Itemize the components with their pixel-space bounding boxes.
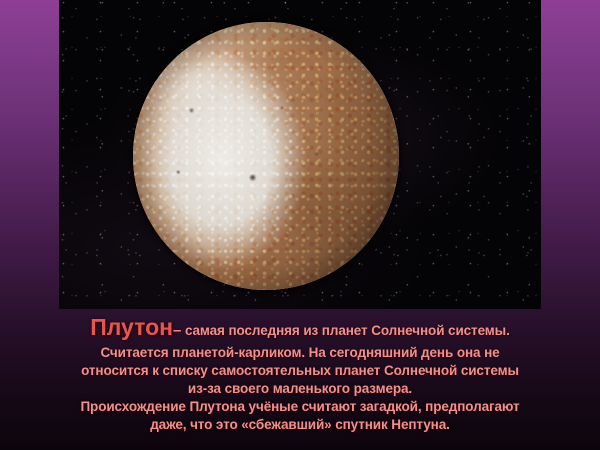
caption-line-2: Считается планетой-карликом. На сегодняш… [0, 344, 600, 362]
page-title: Плутон [90, 314, 173, 340]
caption-line-1-rest: самая последняя из планет Солнечной сист… [185, 323, 510, 338]
pluto-photo [59, 0, 541, 309]
caption-line-1: Плутон– самая последняя из планет Солнеч… [0, 314, 600, 344]
caption-dash: – [173, 322, 181, 339]
caption-line-5: Происхождение Плутона учёные считают заг… [0, 398, 600, 416]
caption-line-3: относится к списку самостоятельных плане… [0, 362, 600, 380]
caption-line-6: даже, что это «сбежавший» спутник Нептун… [0, 416, 600, 434]
planet-limb-shading [133, 22, 399, 290]
caption-line-4: из-за своего маленького размера. [0, 380, 600, 398]
planet-pluto-sphere [133, 22, 399, 290]
caption-block: Плутон– самая последняя из планет Солнеч… [0, 309, 600, 450]
presentation-slide: Плутон– самая последняя из планет Солнеч… [0, 0, 600, 450]
